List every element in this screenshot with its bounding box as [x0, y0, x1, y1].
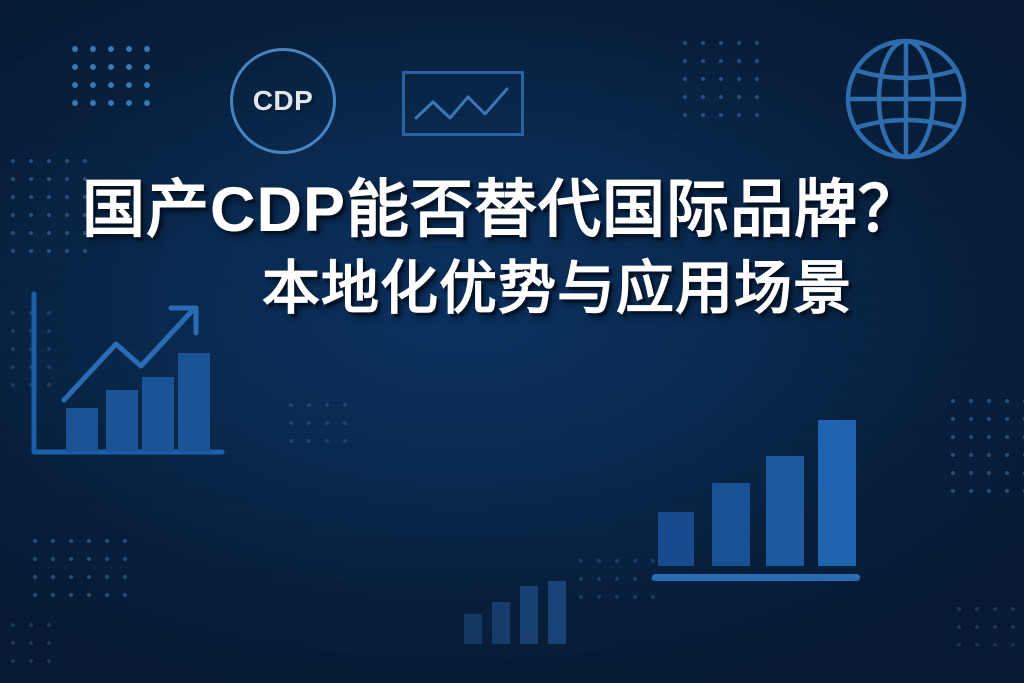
page-title: 国产CDP能否替代国际品牌？ 本地化优势与应用场景 [0, 178, 1024, 318]
dot-grid-top-left [62, 36, 158, 114]
title-line-1: 国产CDP能否替代国际品牌？ [0, 178, 996, 242]
title-line-2: 本地化优势与应用场景 [0, 259, 996, 318]
cdp-badge-label: CDP [253, 85, 314, 117]
dot-grid-bottom-left [22, 528, 134, 606]
cdp-badge: CDP [230, 48, 336, 154]
dot-grid-center-left [278, 392, 356, 454]
line-chart-box-icon [402, 71, 524, 136]
dot-grid-bottom-left-corner [0, 612, 60, 672]
bar-chart-bottom-center [462, 580, 572, 644]
dot-grid-bottom-right [946, 596, 1024, 646]
dot-grid-right-edge [940, 388, 1024, 502]
poster-canvas: CDP [0, 0, 1024, 683]
globe-icon [843, 36, 969, 162]
bar-chart-bottom-right [640, 412, 870, 584]
dot-grid-top-right [672, 30, 768, 126]
